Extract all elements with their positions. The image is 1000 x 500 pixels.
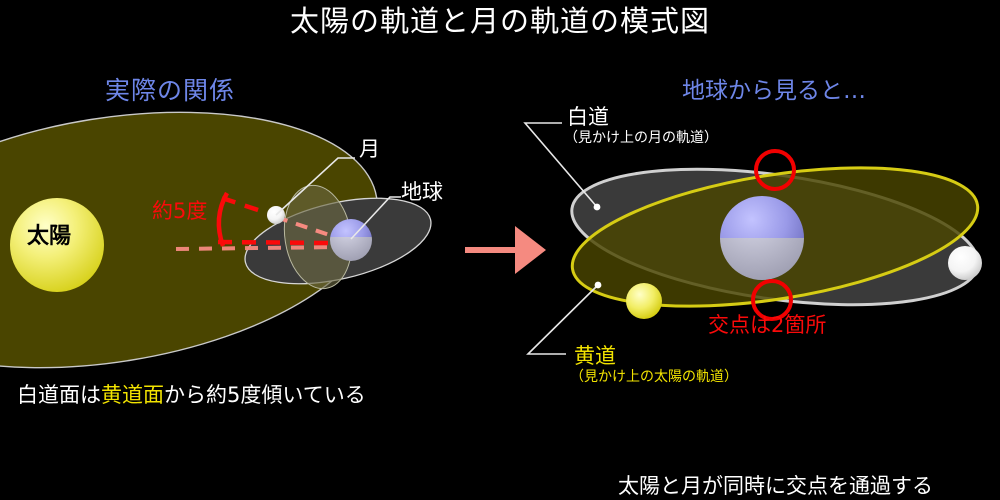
caption-left-highlight: 黄道面 [101,383,164,407]
label-nodes-count: 交点は2箇所 [708,313,826,338]
moon-body-right [948,246,982,280]
label-hakudo: 白道 [567,105,609,130]
earth-body-right [720,196,804,280]
caption-right: 太陽と月が同時に交点を通過する 時にしか日食は発生しない [618,424,933,500]
page-title: 太陽の軌道と月の軌道の模式図 [0,4,1000,38]
label-kodo: 黄道 [574,344,616,369]
diagram-canvas: 太陽の軌道と月の軌道の模式図 実際の関係 地球から見ると… 月 地球 約5度 太… [0,0,1000,500]
right-arrow-icon [465,226,546,274]
label-earth: 地球 [401,180,443,205]
label-moon: 月 [359,137,380,162]
label-sun: 太陽 [27,224,71,250]
label-angle-5-degrees: 約5度 [152,199,207,224]
caption-left-part2: から約5度傾いている [164,383,366,407]
label-kodo-sub: （見かけ上の太陽の軌道） [570,369,738,386]
section-heading-right: 地球から見ると… [682,78,866,105]
section-heading-left: 実際の関係 [105,76,235,106]
caption-right-line1: 太陽と月が同時に交点を通過する [618,474,933,499]
caption-left-part1: 白道面は [17,383,101,407]
caption-left: 白道面は黄道面から約5度傾いている [17,383,366,408]
sun-body-right [626,283,662,319]
label-hakudo-sub: （見かけ上の月の軌道） [564,130,718,147]
earth-body-left [330,219,372,261]
